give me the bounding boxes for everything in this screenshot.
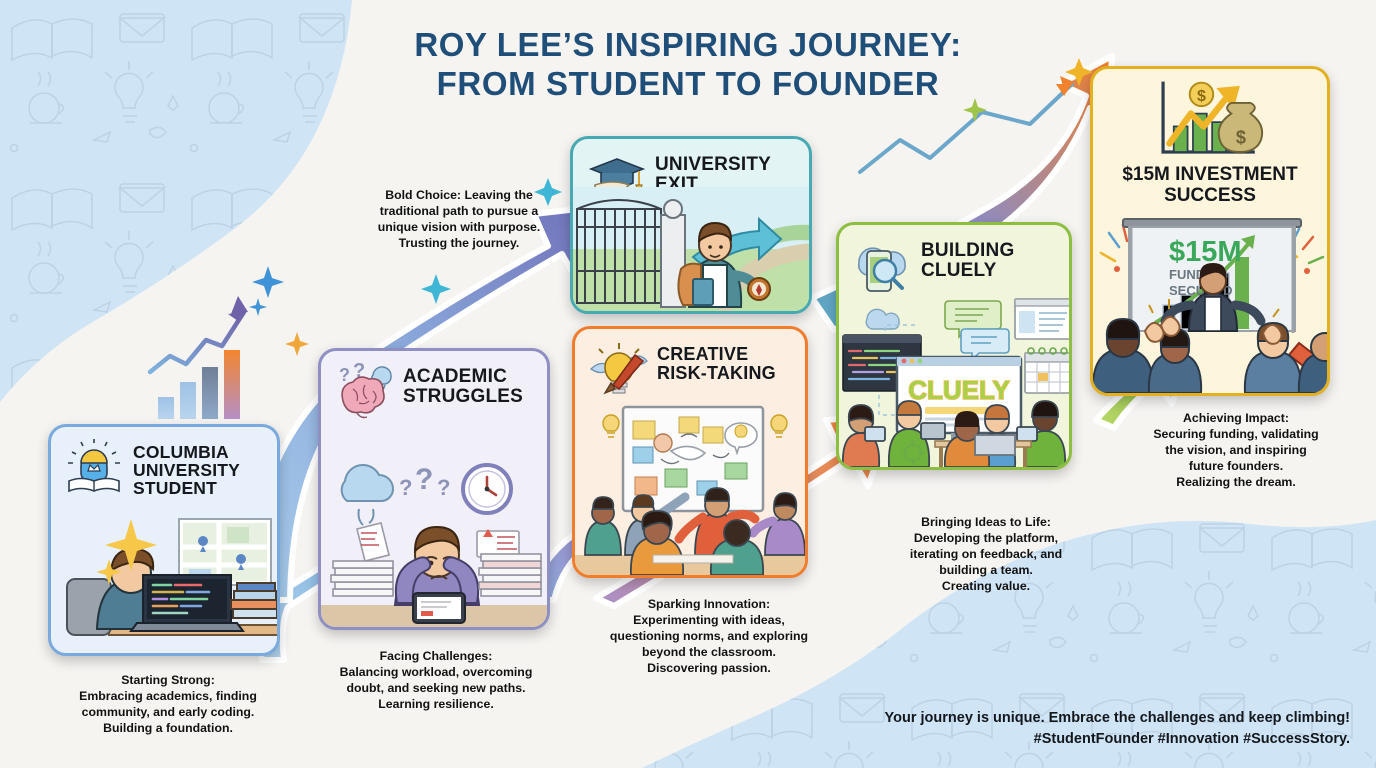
svg-text:?: ? xyxy=(399,475,412,500)
card-investment-success[interactable]: $ $ $15M INVESTMENT SUCCESS xyxy=(1090,66,1330,396)
card-header: ? ? ACADEMIC STRUGGLES xyxy=(321,351,547,423)
svg-text:$: $ xyxy=(1236,127,1246,147)
caption-bringing-ideas-to-life: Bringing Ideas to Life: Developing the p… xyxy=(868,515,1104,595)
cloud-phone-magnifier-icon xyxy=(851,235,913,297)
caption-sparking-innovation: Sparking Innovation: Experimenting with … xyxy=(585,597,833,677)
cluely-screen-label: CLUELY xyxy=(908,375,1010,405)
svg-text:?: ? xyxy=(339,365,350,385)
infographic-canvas: ROY LEE’S INSPIRING JOURNEY: FROM STUDEN… xyxy=(0,0,1376,768)
footer-line-2: #StudentFounder #Innovation #SuccessStor… xyxy=(1034,731,1350,747)
sparkle-icon xyxy=(282,330,312,360)
student-coding-illustration xyxy=(51,513,280,653)
caption-starting-strong: Starting Strong: Embracing academics, fi… xyxy=(48,673,288,737)
card-academic-struggles[interactable]: ? ? ACADEMIC STRUGGLES xyxy=(318,348,550,630)
growth-chart-with-money-bag-icon: $ $ xyxy=(1093,77,1327,163)
sparkle-icon xyxy=(1062,56,1096,90)
caption-achieving-impact: Achieving Impact: Securing funding, vali… xyxy=(1118,411,1354,491)
sparkle-icon xyxy=(418,272,454,308)
svg-text:$: $ xyxy=(1197,88,1206,105)
card-title: ACADEMIC STRUGGLES xyxy=(403,361,523,407)
card-university-exit[interactable]: UNIVERSITY EXIT xyxy=(570,136,812,314)
caption-facing-challenges: Facing Challenges: Balancing workload, o… xyxy=(305,649,567,713)
mini-growth-chart-decoration xyxy=(150,296,248,419)
campus-gate-exit-illustration xyxy=(573,187,812,311)
sparkle-icon xyxy=(960,96,990,126)
svg-text:?: ? xyxy=(415,463,433,496)
card-columbia-university-student[interactable]: COLUMBIA UNIVERSITY STUDENT xyxy=(48,424,280,656)
card-title: CREATIVE RISK-TAKING xyxy=(657,339,776,382)
team-brainstorming-illustration xyxy=(575,403,808,575)
sparkle-icon xyxy=(531,176,565,210)
funding-amount-label: $15M xyxy=(1169,236,1242,268)
card-header: COLUMBIA UNIVERSITY STUDENT xyxy=(51,427,277,499)
card-header: BUILDING CLUELY xyxy=(839,225,1069,297)
sparkle-icon xyxy=(248,262,288,322)
footer-message: Your journey is unique. Embrace the chal… xyxy=(885,708,1350,750)
stressed-student-illustration: ? ? ? xyxy=(321,437,550,627)
team-building-product-illustration: CLUELY xyxy=(839,295,1072,467)
sparkle-icon xyxy=(97,515,159,589)
brain-with-question-marks-icon: ? ? xyxy=(333,361,395,423)
university-crest-icon xyxy=(63,437,125,499)
card-title: COLUMBIA UNIVERSITY STUDENT xyxy=(133,437,240,498)
card-creative-risk-taking[interactable]: CREATIVE RISK-TAKING xyxy=(572,326,808,578)
card-title: $15M INVESTMENT SUCCESS xyxy=(1093,165,1327,207)
card-header: CREATIVE RISK-TAKING xyxy=(575,329,805,401)
founder-presenting-funding-illustration: $15M FUNDING SECURED xyxy=(1093,213,1330,393)
footer-line-1: Your journey is unique. Embrace the chal… xyxy=(885,710,1350,726)
card-title: BUILDING CLUELY xyxy=(921,235,1014,281)
card-building-cluely[interactable]: BUILDING CLUELY xyxy=(836,222,1072,470)
svg-text:?: ? xyxy=(437,475,450,500)
winged-lightbulb-with-paintbrush-icon xyxy=(587,339,649,401)
